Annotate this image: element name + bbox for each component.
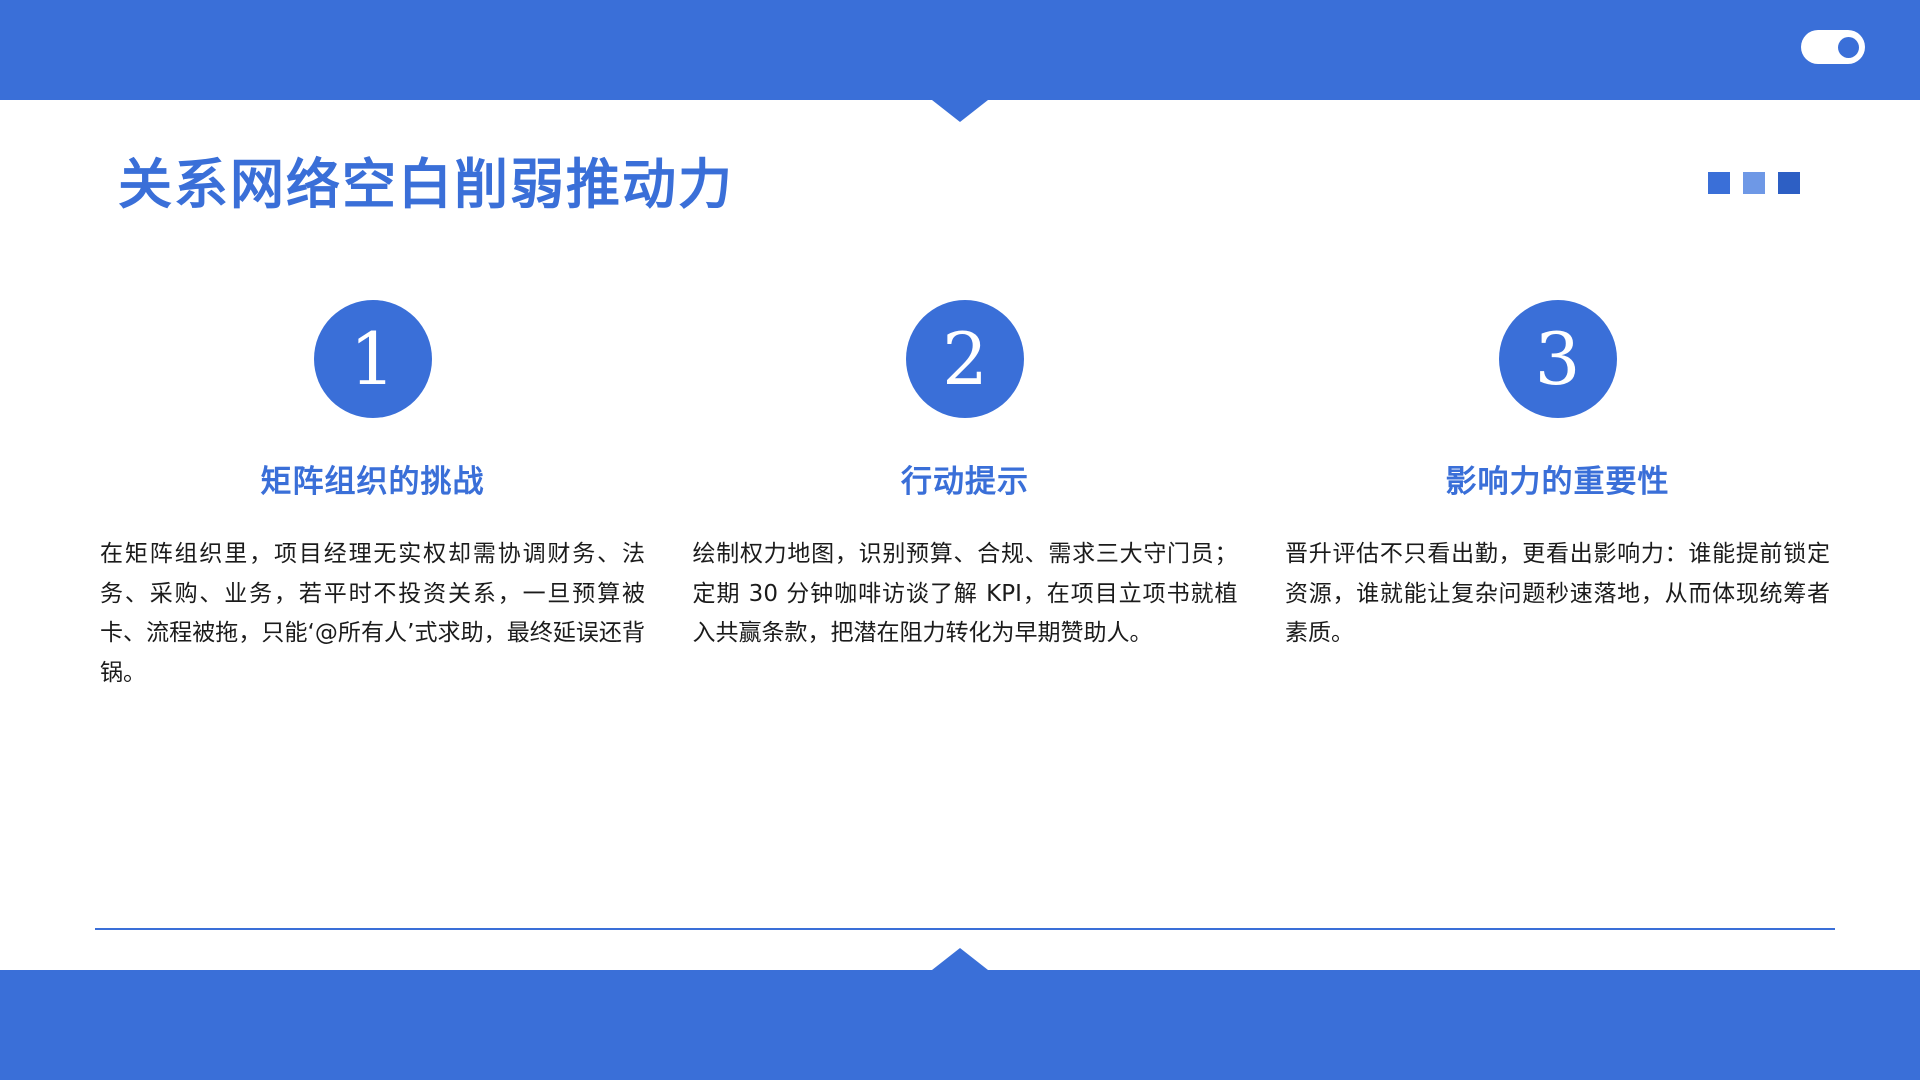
toggle-knob-icon [1838,37,1859,58]
content-column-1: 1 矩阵组织的挑战 在矩阵组织里，项目经理无实权却需协调财务、法务、采购、业务，… [100,300,645,693]
footer-divider [95,928,1835,930]
square-icon-2 [1743,172,1765,194]
top-band-notch [932,100,988,122]
bottom-band-notch [932,948,988,970]
step-number-badge-1: 1 [314,300,432,418]
slide-root: 关系网络空白削弱推动力 1 矩阵组织的挑战 在矩阵组织里，项目经理无实权却需协调… [0,0,1920,1080]
page-title: 关系网络空白削弱推动力 [118,140,734,219]
top-blue-band [0,0,1920,100]
content-columns: 1 矩阵组织的挑战 在矩阵组织里，项目经理无实权却需协调财务、法务、采购、业务，… [100,300,1830,693]
decorative-squares [1708,172,1800,194]
content-column-3: 3 影响力的重要性 晋升评估不只看出勤，更看出影响力：谁能提前锁定资源，谁就能让… [1285,300,1830,693]
column-body-3: 晋升评估不只看出勤，更看出影响力：谁能提前锁定资源，谁就能让复杂问题秒速落地，从… [1285,535,1830,654]
toggle-switch[interactable] [1801,30,1865,64]
step-number-badge-3: 3 [1499,300,1617,418]
content-column-2: 2 行动提示 绘制权力地图，识别预算、合规、需求三大守门员；定期 30 分钟咖啡… [693,300,1238,693]
column-heading-1: 矩阵组织的挑战 [261,456,485,501]
step-number-badge-2: 2 [906,300,1024,418]
column-body-1: 在矩阵组织里，项目经理无实权却需协调财务、法务、采购、业务，若平时不投资关系，一… [100,535,645,693]
column-heading-2: 行动提示 [901,456,1029,501]
square-icon-3 [1778,172,1800,194]
square-icon-1 [1708,172,1730,194]
column-heading-3: 影响力的重要性 [1446,456,1670,501]
column-body-2: 绘制权力地图，识别预算、合规、需求三大守门员；定期 30 分钟咖啡访谈了解 KP… [693,535,1238,654]
bottom-blue-band [0,970,1920,1080]
